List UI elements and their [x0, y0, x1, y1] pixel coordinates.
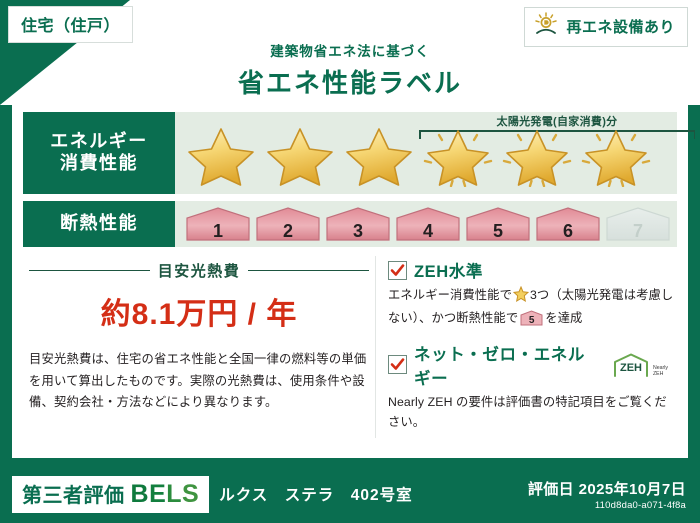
- zeh-body-pre: エネルギー消費性能で: [388, 288, 512, 302]
- evaluation-date: 評価日 2025年10月7日: [528, 478, 686, 499]
- insulation-level-label: 1: [185, 222, 251, 240]
- zeh-panel: ZEH水準 エネルギー消費性能で3つ（太陽光発電は考慮しない）、かつ断熱性能で5…: [375, 256, 677, 438]
- star-rating: [175, 123, 654, 187]
- property-name: ルクス ステラ 402号室: [219, 483, 412, 505]
- insulation-level-label: 5: [465, 222, 531, 240]
- checkbox-zeh-standard[interactable]: [388, 261, 407, 280]
- heading-rule-left: [29, 270, 150, 272]
- title-main: 省エネ性能ラベル: [0, 63, 700, 100]
- zeh-standard-body: エネルギー消費性能で3つ（太陽光発電は考慮しない）、かつ断熱性能で5を達成: [388, 286, 675, 329]
- evaluation-info: 評価日 2025年10月7日 110d8da0-a071-4f8a: [528, 478, 686, 511]
- net-zero-energy-header: ネット・ゼロ・エネルギー ZEH Nearly ZEH: [388, 341, 675, 389]
- insulation-house-icon: 1: [185, 206, 251, 242]
- zeh-standard-header: ZEH水準: [388, 258, 675, 282]
- insulation-house-icon: 4: [395, 206, 461, 242]
- inline-star-icon: [513, 286, 529, 309]
- energy-performance-label: 住宅（住戸） 再エネ設備あり 建築物省エネ法に基づく 省エネ性能ラベル: [0, 0, 700, 523]
- insulation-house-icon: 6: [535, 206, 601, 242]
- label-footer: 第三者評価 BELS ルクス ステラ 402号室 評価日 2025年10月7日 …: [0, 465, 700, 523]
- label-card: エネルギー 消費性能 太陽光発電(自家消費)分: [12, 103, 688, 458]
- energy-consumption-value: 太陽光発電(自家消費)分: [175, 112, 677, 194]
- star-icon-solar: [578, 123, 654, 187]
- insulation-scale: 1 2 3: [175, 206, 671, 242]
- zeh-body-post: を達成: [545, 311, 582, 325]
- star-icon-solar: [499, 123, 575, 187]
- renewable-badge-label: 再エネ設備あり: [566, 16, 675, 37]
- inline-house-number: 5: [520, 316, 543, 326]
- star-icon: [262, 123, 338, 187]
- insulation-house-icon: 3: [325, 206, 391, 242]
- net-zero-energy-body: Nearly ZEH の要件は評価書の特記項目をご覧ください。: [388, 393, 675, 433]
- checkbox-net-zero-energy[interactable]: [388, 355, 407, 374]
- renewable-energy-badge: 再エネ設備あり: [524, 7, 688, 47]
- star-icon: [341, 123, 417, 187]
- insulation-value: 1 2 3: [175, 201, 677, 247]
- utility-cost-heading: 目安光熱費: [29, 260, 369, 281]
- energy-consumption-row: エネルギー 消費性能 太陽光発電(自家消費)分: [23, 112, 677, 194]
- insulation-house-icon-inactive: 7: [605, 206, 671, 242]
- label-title: 建築物省エネ法に基づく 省エネ性能ラベル: [0, 40, 700, 100]
- energy-key-line1: エネルギー: [50, 131, 148, 153]
- heading-rule-right: [248, 270, 369, 272]
- insulation-level-label: 2: [255, 222, 321, 240]
- insulation-level-label: 4: [395, 222, 461, 240]
- utility-cost-value: 約8.1万円 / 年: [29, 289, 369, 333]
- zeh-standard-block: ZEH水準 エネルギー消費性能で3つ（太陽光発電は考慮しない）、かつ断熱性能で5…: [388, 258, 675, 329]
- utility-cost-note: 目安光熱費は、住宅の省エネ性能と全国一律の燃料等の単価を用いて算出したものです。…: [29, 349, 369, 414]
- star-icon-solar: [420, 123, 496, 187]
- category-tag: 住宅（住戸）: [8, 6, 133, 43]
- bels-certification-tag: 第三者評価 BELS: [12, 476, 209, 513]
- star-icon: [183, 123, 259, 187]
- insulation-house-icon: 2: [255, 206, 321, 242]
- evaluation-id: 110d8da0-a071-4f8a: [528, 500, 686, 511]
- svg-text:ZEH: ZEH: [653, 371, 664, 377]
- details-section: 目安光熱費 約8.1万円 / 年 目安光熱費は、住宅の省エネ性能と全国一律の燃料…: [23, 256, 677, 438]
- insulation-level-label: 3: [325, 222, 391, 240]
- bels-jp-label: 第三者評価: [22, 479, 125, 508]
- utility-cost-heading-label: 目安光熱費: [158, 260, 241, 281]
- insulation-key: 断熱性能: [23, 201, 175, 247]
- sun-renewable-icon: [533, 12, 559, 41]
- insulation-performance-row: 断熱性能: [23, 201, 677, 247]
- insulation-house-icon: 5: [465, 206, 531, 242]
- insulation-level-label: 7: [605, 222, 671, 240]
- energy-key-line2: 消費性能: [60, 153, 138, 175]
- inline-house-icon: 5: [520, 310, 543, 326]
- bels-logo: BELS: [131, 480, 200, 509]
- net-zero-energy-block: ネット・ゼロ・エネルギー ZEH Nearly ZEH: [388, 341, 675, 433]
- insulation-level-label: 6: [535, 222, 601, 240]
- energy-consumption-key: エネルギー 消費性能: [23, 112, 175, 194]
- svg-text:ZEH: ZEH: [620, 362, 642, 374]
- net-zero-energy-title: ネット・ゼロ・エネルギー: [414, 341, 600, 389]
- zeh-standard-title: ZEH水準: [414, 258, 483, 282]
- zeh-logo-icon: ZEH Nearly ZEH: [611, 352, 675, 378]
- utility-cost-panel: 目安光熱費 約8.1万円 / 年 目安光熱費は、住宅の省エネ性能と全国一律の燃料…: [23, 256, 375, 438]
